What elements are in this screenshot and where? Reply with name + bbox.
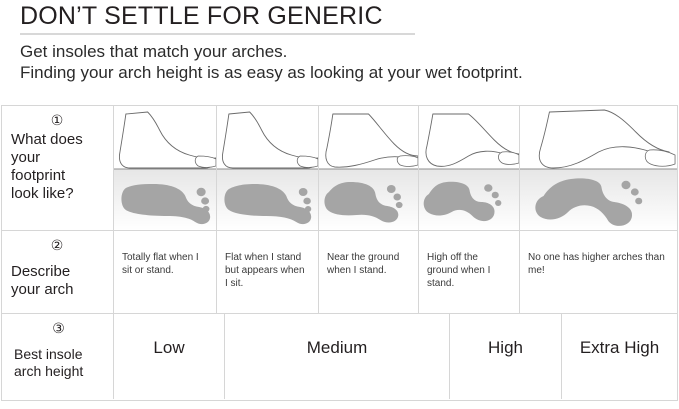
page-title: DON’T SETTLE FOR GENERIC [20, 2, 679, 30]
high-arch-footprint-icon [419, 106, 519, 230]
description-cell-1: Totally flat when I sit or stand. [113, 231, 216, 313]
arch-height-cell-high: High [449, 314, 561, 399]
table-row-arch-heights: ③ Best insole arch height Low Medium Hig… [2, 314, 677, 399]
arch-height-label: Extra High [562, 314, 677, 399]
arch-height-cell-low: Low [113, 314, 224, 399]
table-row-descriptions: ② Describe your arch Totally flat when I… [2, 230, 677, 314]
description-text: Near the ground when I stand. [319, 231, 418, 277]
row-label-line-1: What does [11, 131, 113, 149]
description-text: Totally flat when I sit or stand. [114, 231, 216, 277]
row-label-describe-line-2: your arch [11, 281, 113, 299]
description-text: Flat when I stand but appears when I sit… [217, 231, 318, 290]
table-row-footprints: ① What does your footprint look like? [2, 106, 677, 230]
title-divider [20, 33, 415, 35]
extra-high-arch-footprint-icon [520, 106, 677, 230]
row-label-insole-height: ③ Best insole arch height [2, 314, 113, 399]
footprint-cell-low-1 [113, 106, 216, 230]
footprint-cell-high [418, 106, 519, 230]
arch-height-cell-medium: Medium [224, 314, 449, 399]
row-label-line-2: your [11, 149, 113, 167]
arch-height-infographic: DON’T SETTLE FOR GENERIC Get insoles tha… [0, 2, 679, 409]
header: DON’T SETTLE FOR GENERIC Get insoles tha… [0, 2, 679, 83]
row-label-height-line-1: Best insole [14, 346, 113, 363]
description-text: High off the ground when I stand. [419, 231, 519, 290]
step-number-3: ③ [14, 320, 113, 336]
description-cell-3: Near the ground when I stand. [318, 231, 418, 313]
description-text: No one has higher arches than me! [520, 231, 677, 277]
subtitle-line-1: Get insoles that match your arches. [20, 41, 679, 62]
arch-height-label: Low [114, 314, 224, 399]
row-label-line-3: footprint [11, 167, 113, 185]
footprint-cell-extra-high [519, 106, 677, 230]
row-label-describe: ② Describe your arch [2, 231, 113, 313]
row-label-height-line-2: arch height [14, 363, 113, 380]
flat-footprint-no-arch-icon [114, 106, 216, 230]
flat-footprint-slight-arch-icon [217, 106, 318, 230]
arch-height-cell-extra-high: Extra High [561, 314, 677, 399]
row-label-line-4: look like? [11, 185, 113, 203]
step-number-1: ① [11, 112, 113, 128]
footprint-cell-low-2 [216, 106, 318, 230]
description-cell-5: No one has higher arches than me! [519, 231, 677, 313]
subtitle-line-2: Finding your arch height is as easy as l… [20, 62, 679, 83]
description-cell-4: High off the ground when I stand. [418, 231, 519, 313]
arch-comparison-table: ① What does your footprint look like? [1, 105, 678, 401]
arch-height-label: High [450, 314, 561, 399]
description-cell-2: Flat when I stand but appears when I sit… [216, 231, 318, 313]
arch-height-label: Medium [225, 314, 449, 399]
medium-arch-footprint-icon [319, 106, 418, 230]
row-label-footprint: ① What does your footprint look like? [2, 106, 113, 230]
footprint-cell-medium-1 [318, 106, 418, 230]
step-number-2: ② [11, 237, 113, 253]
row-label-describe-line-1: Describe [11, 263, 113, 281]
